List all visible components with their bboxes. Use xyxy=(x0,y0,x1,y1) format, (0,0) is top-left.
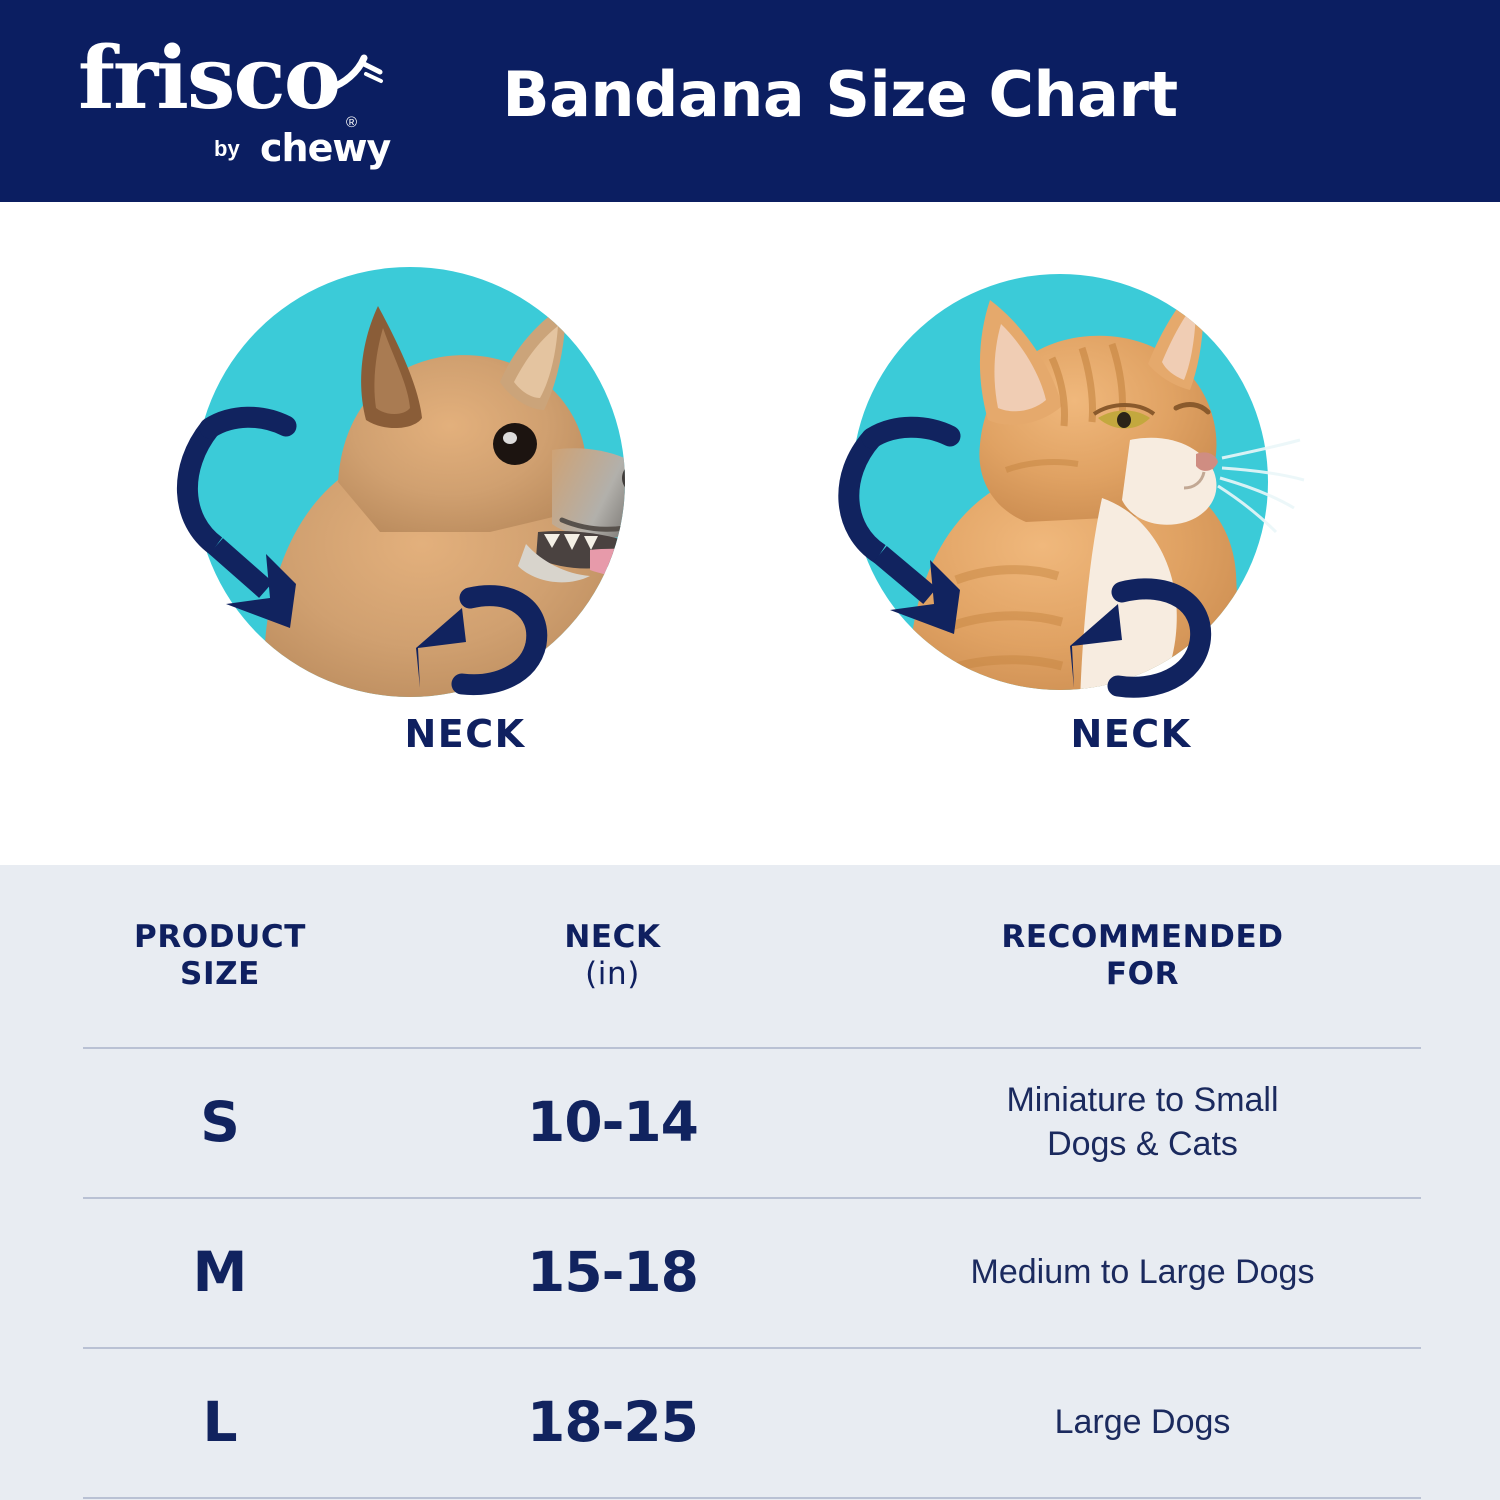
header-cell-recommended-for: RECOMMENDED FOR xyxy=(785,919,1500,992)
size-value: M xyxy=(193,1240,248,1304)
dog-illustration-svg xyxy=(170,232,690,722)
header-cell-neck: NECK (in) xyxy=(440,919,785,992)
table-header-row: PRODUCT SIZE NECK (in) RECOMMENDED FOR xyxy=(0,865,1500,1047)
table-row: L 18-25 Large Dogs xyxy=(0,1347,1500,1497)
header-product-size-line1: PRODUCT xyxy=(134,919,306,955)
header-recommended-line1: RECOMMENDED xyxy=(1001,919,1283,955)
neck-value: 18-25 xyxy=(527,1390,698,1454)
cell-neck: 10-14 xyxy=(440,1090,785,1154)
page-header: frisco ® by chewy Bandana Size Chart xyxy=(0,0,1500,202)
header-neck-line1: NECK xyxy=(564,919,660,955)
size-chart-page: frisco ® by chewy Bandana Size Chart xyxy=(0,0,1500,1500)
cat-neck-label: NECK xyxy=(830,712,1350,756)
table-row: S 10-14 Miniature to Small Dogs & Cats xyxy=(0,1047,1500,1197)
size-value: S xyxy=(200,1090,240,1154)
dog-figure xyxy=(170,232,690,722)
cell-recommended: Miniature to Small Dogs & Cats xyxy=(785,1078,1500,1166)
cell-neck: 15-18 xyxy=(440,1240,785,1304)
page-title: Bandana Size Chart xyxy=(0,58,1500,131)
chewy-wordmark: chewy xyxy=(260,126,390,170)
cat-figure xyxy=(830,232,1350,722)
recommended-line1: Miniature to Small xyxy=(1006,1081,1278,1119)
header-product-size-line2: SIZE xyxy=(180,956,260,992)
size-value: L xyxy=(202,1390,237,1454)
size-table-section: PRODUCT SIZE NECK (in) RECOMMENDED FOR xyxy=(0,865,1500,1500)
dog-measurement-illustration: NECK xyxy=(170,232,690,832)
cell-size: M xyxy=(0,1240,440,1304)
header-recommended-line2: FOR xyxy=(1106,956,1179,992)
neck-value: 10-14 xyxy=(527,1090,698,1154)
cat-measurement-illustration: NECK xyxy=(830,232,1350,832)
header-cell-product-size: PRODUCT SIZE xyxy=(0,919,440,992)
row-divider-bottom xyxy=(83,1497,1421,1499)
cell-neck: 18-25 xyxy=(440,1390,785,1454)
dog-neck-label: NECK xyxy=(170,712,690,756)
cat-illustration-svg xyxy=(830,232,1350,722)
dog-neck-arrow-top xyxy=(210,417,286,428)
neck-value: 15-18 xyxy=(527,1240,698,1304)
cell-size: L xyxy=(0,1390,440,1454)
recommended-line2: Dogs & Cats xyxy=(1047,1125,1238,1163)
cell-size: S xyxy=(0,1090,440,1154)
recommended-line1: Large Dogs xyxy=(1055,1403,1231,1441)
logo-by-text: by xyxy=(214,136,240,162)
table-row: M 15-18 Medium to Large Dogs xyxy=(0,1197,1500,1347)
size-table: PRODUCT SIZE NECK (in) RECOMMENDED FOR xyxy=(0,865,1500,1497)
cell-recommended: Medium to Large Dogs xyxy=(785,1250,1500,1294)
cell-recommended: Large Dogs xyxy=(785,1400,1500,1444)
illustration-band: NECK xyxy=(0,202,1500,865)
header-neck-unit: (in) xyxy=(585,956,640,992)
recommended-line1: Medium to Large Dogs xyxy=(971,1253,1315,1291)
